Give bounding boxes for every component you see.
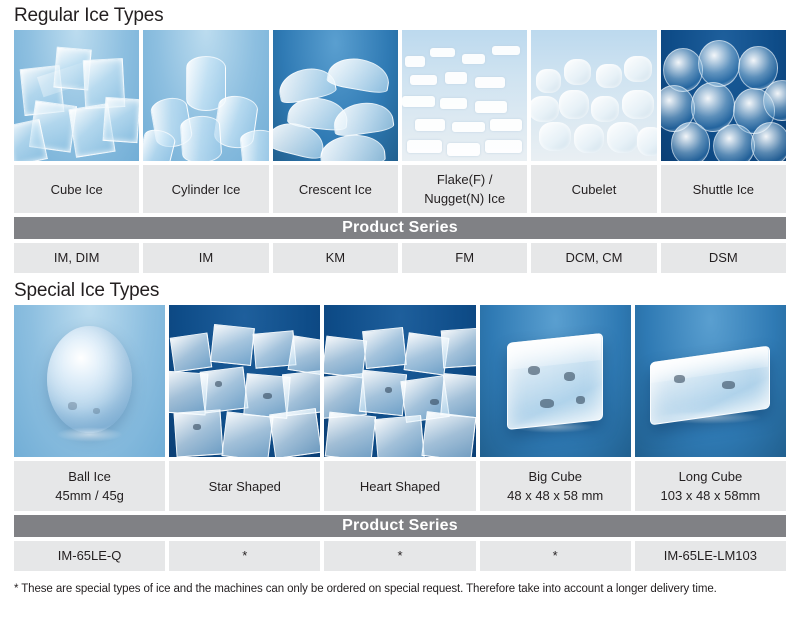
shuttle-ice-photo	[661, 30, 786, 161]
item-sublabel: 103 x 48 x 58mm	[661, 486, 761, 505]
series-cell: IM, DIM	[14, 243, 139, 273]
label-cell: Cube Ice	[14, 165, 139, 213]
item-label: Flake(F) /	[437, 170, 493, 189]
series-cell: DCM, CM	[531, 243, 656, 273]
product-series-bar: Product Series	[14, 515, 786, 537]
label-cell: Long Cube103 x 48 x 58mm	[635, 461, 786, 511]
item-label: Long Cube	[679, 467, 743, 486]
label-cell: Big Cube48 x 48 x 58 mm	[480, 461, 631, 511]
label-cell: Star Shaped	[169, 461, 320, 511]
flake-nugget-ice-photo	[402, 30, 527, 161]
regular-photo-row	[14, 30, 786, 161]
label-cell: Ball Ice45mm / 45g	[14, 461, 165, 511]
page-title-regular: Regular Ice Types	[14, 0, 786, 30]
series-cell: KM	[273, 243, 398, 273]
crescent-ice-photo	[273, 30, 398, 161]
label-cell: Flake(F) /Nugget(N) Ice	[402, 165, 527, 213]
item-label: Cylinder Ice	[172, 180, 241, 199]
item-label: Cubelet	[572, 180, 617, 199]
label-cell: Heart Shaped	[324, 461, 475, 511]
label-cell: Crescent Ice	[273, 165, 398, 213]
heart-shaped-photo	[324, 305, 475, 457]
regular-label-row: Cube Ice Cylinder Ice Crescent Ice Flake…	[14, 165, 786, 213]
cylinder-ice-photo	[143, 30, 268, 161]
footnote: * These are special types of ice and the…	[14, 571, 786, 597]
special-label-row: Ball Ice45mm / 45g Star Shaped Heart Sha…	[14, 461, 786, 511]
item-label: Star Shaped	[209, 477, 281, 496]
big-cube-photo	[480, 305, 631, 457]
series-cell: IM-65LE-LM103	[635, 541, 786, 571]
ice-types-page: Regular Ice Types	[0, 0, 800, 633]
page-title-special: Special Ice Types	[14, 273, 786, 305]
label-cell: Shuttle Ice	[661, 165, 786, 213]
item-label: Crescent Ice	[299, 180, 372, 199]
series-cell: *	[169, 541, 320, 571]
item-sublabel: Nugget(N) Ice	[424, 189, 505, 208]
series-cell: DSM	[661, 243, 786, 273]
ball-ice-photo	[14, 305, 165, 457]
star-shaped-photo	[169, 305, 320, 457]
cube-ice-photo	[14, 30, 139, 161]
long-cube-photo	[635, 305, 786, 457]
label-cell: Cubelet	[531, 165, 656, 213]
item-label: Big Cube	[528, 467, 581, 486]
item-label: Shuttle Ice	[693, 180, 754, 199]
item-label: Ball Ice	[68, 467, 111, 486]
item-label: Cube Ice	[51, 180, 103, 199]
series-cell: *	[480, 541, 631, 571]
special-series-row: IM-65LE-Q * * * IM-65LE-LM103	[14, 541, 786, 571]
item-label: Heart Shaped	[360, 477, 440, 496]
special-photo-row	[14, 305, 786, 457]
cubelet-photo	[531, 30, 656, 161]
series-cell: *	[324, 541, 475, 571]
item-sublabel: 45mm / 45g	[55, 486, 124, 505]
series-cell: FM	[402, 243, 527, 273]
series-cell: IM-65LE-Q	[14, 541, 165, 571]
item-sublabel: 48 x 48 x 58 mm	[507, 486, 603, 505]
product-series-bar: Product Series	[14, 217, 786, 239]
regular-series-row: IM, DIM IM KM FM DCM, CM DSM	[14, 243, 786, 273]
label-cell: Cylinder Ice	[143, 165, 268, 213]
series-cell: IM	[143, 243, 268, 273]
